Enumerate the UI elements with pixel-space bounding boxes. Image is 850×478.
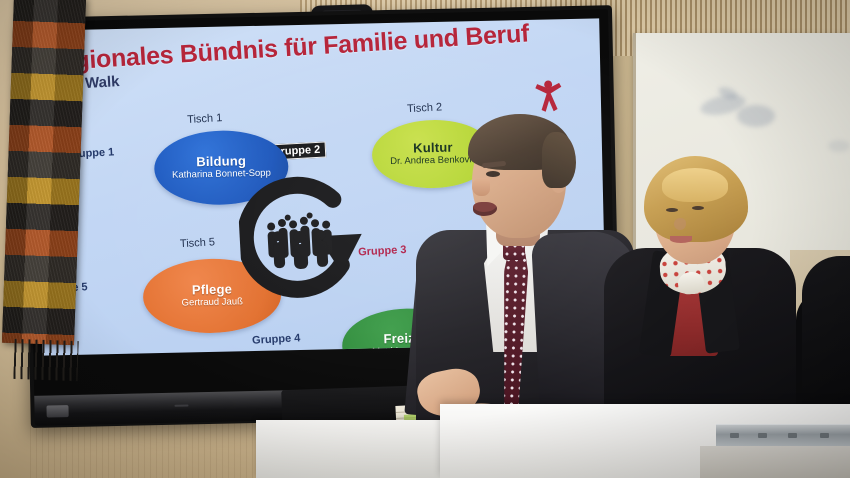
- crowd-of-people-icon: [262, 209, 339, 271]
- slide-title: gionales Bündnis für Familie und Beruf: [74, 18, 595, 74]
- nose: [472, 178, 490, 196]
- topic-title: Pflege: [192, 282, 233, 297]
- group-label-4: Gruppe 4: [252, 332, 301, 347]
- scarf-fringe: [13, 339, 78, 381]
- smiling-mouth: [670, 236, 692, 243]
- eye-left: [666, 208, 678, 212]
- topic-facilitator: Gertraud Jauß: [182, 298, 243, 310]
- display-brand-plate: [46, 405, 68, 417]
- third-person-partial: [802, 256, 850, 426]
- eye: [486, 171, 500, 177]
- hair-side: [542, 132, 576, 188]
- whiteboard-smudge: [828, 140, 850, 152]
- hair-front: [662, 168, 728, 202]
- red-person-logo: [533, 79, 565, 115]
- nose: [674, 218, 686, 230]
- plaid-scarf: [2, 0, 86, 345]
- whiteboard-smudge: [737, 105, 775, 127]
- table-label-5: Tisch 5: [180, 236, 216, 250]
- topic-title: Bildung: [196, 154, 246, 170]
- drawer-slide-rail: [716, 424, 850, 446]
- woman-standing: [600, 160, 800, 420]
- desk-lower-shelf: [700, 446, 850, 478]
- table-label-1: Tisch 1: [187, 112, 223, 126]
- screenshot-root: gionales Bündnis für Familie und Beruf r…: [0, 0, 850, 478]
- eye-right: [692, 206, 704, 210]
